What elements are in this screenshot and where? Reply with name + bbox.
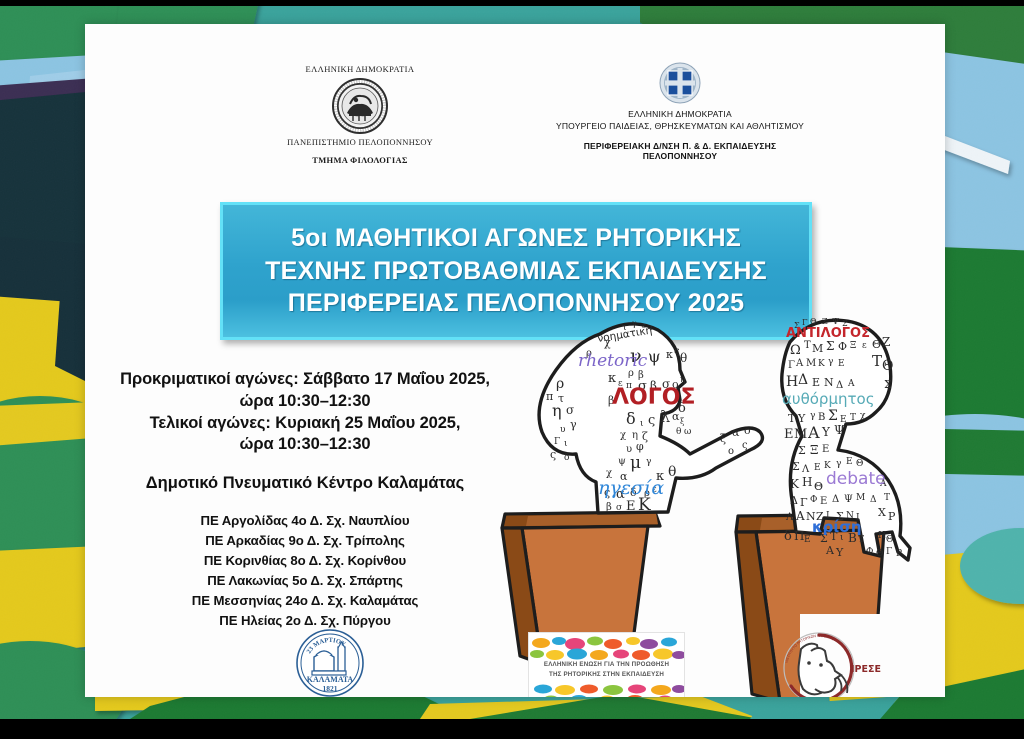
venue-text: Δημοτικό Πνευματικό Κέντρο Καλαμάτας xyxy=(95,474,515,493)
svg-text:Φ: Φ xyxy=(866,547,873,557)
ministry-line2: ΥΠΟΥΡΓΕΙΟ ΠΑΙΔΕΙΑΣ, ΘΡΗΣΚΕΥΜΑΤΩΝ ΚΑΙ ΑΘΛ… xyxy=(515,121,845,131)
svg-text:Ξ: Ξ xyxy=(850,341,856,351)
girl-speaker-wordcloud-figure: τγ ει χρ νψ κς θ ρβ κε πσ βσ οη β δ δι xyxy=(539,319,762,515)
svg-text:Α: Α xyxy=(825,544,835,557)
svg-text:Φ: Φ xyxy=(810,495,817,505)
svg-text:Μ: Μ xyxy=(806,358,816,369)
svg-text:ς: ς xyxy=(550,448,556,461)
svg-text:γ: γ xyxy=(828,357,833,367)
svg-text:κ: κ xyxy=(666,348,673,361)
schedule-block: Προκριματικοί αγώνες: Σάββατο 17 Μαΐου 2… xyxy=(95,369,515,456)
svg-text:Ρ: Ρ xyxy=(896,549,902,559)
svg-text:Ψ: Ψ xyxy=(834,423,845,437)
svg-text:γ: γ xyxy=(810,411,815,421)
svg-text:Θ: Θ xyxy=(810,317,817,326)
svg-text:Θ: Θ xyxy=(814,480,823,493)
speech-bubbles-logo-icon-bottom xyxy=(529,681,684,697)
svg-text:Δ: Δ xyxy=(798,372,808,388)
svg-text:Ε: Ε xyxy=(804,535,811,545)
title-line-2: ΤΕΧΝΗΣ ΠΡΩΤΟΒΑΘΜΙΑΣ ΕΚΠΑΙΔΕΥΣΗΣ xyxy=(265,255,767,288)
svg-text:Δ: Δ xyxy=(790,494,798,507)
svg-text:Γ: Γ xyxy=(886,547,892,557)
list-item: ΠΕ Αργολίδας 4ο Δ. Σχ. Ναυπλίου xyxy=(95,511,515,531)
list-item: ΠΕ Κορινθίας 8ο Δ. Σχ. Κορίνθου xyxy=(95,551,515,571)
svg-text:ψ: ψ xyxy=(648,347,661,366)
svg-text:Ε: Ε xyxy=(784,427,794,442)
bottom-black-bar xyxy=(0,719,1024,739)
list-item: ΠΕ Λακωνίας 5ο Δ. Σχ. Σπάρτης xyxy=(95,571,515,591)
university-line1: ΕΛΛΗΝΙΚΗ ΔΗΜΟΚΡΑΤΙΑ xyxy=(235,64,485,74)
svg-text:ο: ο xyxy=(744,424,751,437)
svg-text:Λ: Λ xyxy=(801,464,810,475)
svg-text:Σ: Σ xyxy=(792,460,800,473)
svg-text:ξ: ξ xyxy=(720,432,726,445)
poster-canvas: ΕΛΛΗΝΙΚΗ ΔΗΜΟΚΡΑΤΙΑ ΠΑΝΕΠΙΣΤΗΜΙΟ ΠΕΛΟΠΟ xyxy=(0,0,1024,739)
svg-text:η: η xyxy=(552,401,562,420)
svg-text:Α: Α xyxy=(795,358,804,369)
hellenic-republic-emblem-icon xyxy=(659,62,701,104)
svg-text:Γ: Γ xyxy=(554,437,560,447)
svg-text:Τ: Τ xyxy=(804,340,811,351)
svg-text:ι: ι xyxy=(564,439,568,449)
svg-text:Ε: Ε xyxy=(838,359,845,369)
svg-text:ι: ι xyxy=(640,419,644,429)
svg-text:γ: γ xyxy=(836,459,841,469)
svg-text:Β: Β xyxy=(818,412,825,423)
svg-text:γ: γ xyxy=(646,457,651,467)
svg-text:Ν: Ν xyxy=(824,376,834,389)
svg-text:Λ: Λ xyxy=(785,512,794,523)
schools-list: ΠΕ Αργολίδας 4ο Δ. Σχ. Ναυπλίου ΠΕ Αρκαδ… xyxy=(95,511,515,631)
svg-text:Τ: Τ xyxy=(788,412,796,425)
svg-text:Τ: Τ xyxy=(884,493,890,503)
svg-text:ψ: ψ xyxy=(618,456,626,467)
top-black-bar xyxy=(0,0,1024,6)
svg-text:Ω: Ω xyxy=(790,343,801,358)
university-of-peloponnese-seal-icon xyxy=(332,78,388,134)
girl-word-rhetoric: rhetoric xyxy=(578,351,648,371)
svg-text:Ε: Ε xyxy=(846,457,853,467)
svg-text:Σ: Σ xyxy=(884,378,892,391)
svg-text:δ: δ xyxy=(564,453,569,463)
svg-text:χ: χ xyxy=(860,411,866,421)
speech-bubbles-logo-icon xyxy=(529,635,684,661)
svg-text:σ: σ xyxy=(566,403,574,417)
svg-text:Ξ: Ξ xyxy=(810,443,818,457)
svg-text:ω: ω xyxy=(684,427,691,437)
svg-text:ς: ς xyxy=(742,440,748,451)
ipese-label: ΙΡΕΣΕ xyxy=(851,664,881,675)
boy-word-afthormitos: αυθόρμητος xyxy=(782,390,875,408)
svg-text:θ: θ xyxy=(668,464,676,480)
list-item: ΠΕ Αρκαδίας 9ο Δ. Σχ. Τρίπολης xyxy=(95,531,515,551)
svg-text:μ: μ xyxy=(630,453,641,473)
svg-text:Τ: Τ xyxy=(858,535,864,545)
svg-text:ς: ς xyxy=(648,413,655,428)
svg-text:φ: φ xyxy=(636,440,644,453)
svg-text:Κ: Κ xyxy=(818,359,825,369)
svg-text:Δ: Δ xyxy=(832,494,839,505)
svg-text:δ: δ xyxy=(784,529,792,544)
title-line-1: 5οι ΜΑΘΗΤΙΚΟΙ ΑΓΩΝΕΣ ΡΗΤΟΡΙΚΗΣ xyxy=(291,222,741,255)
svg-text:Ψ: Ψ xyxy=(844,494,853,505)
ipese-logo-block: ΙΡΕΣΕ ΙΝΣΤΙΤΟΥΤΟ ΡΗΤΟΡΙΚΩΝ ΚΑΙ ΕΠΙΚΟΙΝΩΝ… xyxy=(771,629,891,697)
kalamata-seal-mid-text: ΚΑΛΑΜΑΤΑ xyxy=(307,675,354,684)
eepre-line-1: ΕΛΛΗΝΙΚΗ ΕΝΩΣΗ ΓΙΑ ΤΗΝ ΠΡΟΩΘΗΣΗ xyxy=(529,661,684,668)
svg-text:Η: Η xyxy=(878,531,886,541)
svg-text:Μ: Μ xyxy=(794,427,807,442)
university-block: ΕΛΛΗΝΙΚΗ ΔΗΜΟΚΡΑΤΙΑ ΠΑΝΕΠΙΣΤΗΜΙΟ ΠΕΛΟΠΟ xyxy=(235,64,485,165)
svg-text:σ: σ xyxy=(616,503,622,513)
svg-text:ο: ο xyxy=(728,446,734,457)
kalamata-seal-year: 1821 xyxy=(323,684,338,693)
boy-word-debate: debate xyxy=(826,469,886,489)
ministry-line1: ΕΛΛΗΝΙΚΗ ΔΗΜΟΚΡΑΤΙΑ xyxy=(515,109,845,119)
svg-text:Α: Α xyxy=(807,423,820,442)
girl-word-logos: ΛΟΓΟΣ xyxy=(612,385,695,410)
svg-text:Θ: Θ xyxy=(872,338,881,351)
svg-text:ξ: ξ xyxy=(680,417,685,426)
svg-text:Ρ: Ρ xyxy=(888,510,896,523)
finals-line-2: ώρα 10:30–12:30 xyxy=(95,434,515,456)
svg-text:Ε: Ε xyxy=(814,463,821,473)
svg-text:ρ: ρ xyxy=(556,376,564,392)
svg-text:Α: Α xyxy=(795,509,805,523)
qualifiers-line-2: ώρα 10:30–12:30 xyxy=(95,391,515,413)
ministry-line3: ΠΕΡΙΦΕΡΕΙΑΚΗ Δ/ΝΣΗ Π. & Δ. ΕΚΠΑΙΔΕΥΣΗΣ xyxy=(515,141,845,151)
svg-text:χ: χ xyxy=(620,430,626,441)
svg-text:θ: θ xyxy=(680,351,687,365)
svg-text:Θ: Θ xyxy=(856,459,863,469)
qualifiers-line-1: Προκριματικοί αγώνες: Σάββατο 17 Μαΐου 2… xyxy=(95,369,515,391)
svg-text:Θ: Θ xyxy=(882,358,893,374)
svg-text:Μ: Μ xyxy=(856,493,865,503)
svg-text:Θ: Θ xyxy=(876,549,883,559)
list-item: ΠΕ Μεσσηνίας 24ο Δ. Σχ. Καλαμάτας xyxy=(95,591,515,611)
svg-text:Κ: Κ xyxy=(790,477,800,491)
svg-text:Δ: Δ xyxy=(870,495,877,505)
svg-text:κ: κ xyxy=(608,371,616,386)
svg-text:Υ: Υ xyxy=(835,546,844,559)
university-line2: ΠΑΝΕΠΙΣΤΗΜΙΟ ΠΕΛΟΠΟΝΝΗΣΟΥ xyxy=(235,137,485,147)
svg-text:Γ: Γ xyxy=(800,496,808,509)
svg-text:α: α xyxy=(672,410,680,423)
svg-text:Τ: Τ xyxy=(872,352,882,370)
svg-text:Τ: Τ xyxy=(850,413,856,423)
svg-text:Ε: Ε xyxy=(822,444,829,455)
svg-text:Χ: Χ xyxy=(878,506,886,519)
svg-text:η: η xyxy=(680,375,685,385)
boy-word-antilogos: ΑΝΤΙΛΟΓΟΣ xyxy=(786,326,870,341)
girl-word-igesia: ηγεσία xyxy=(598,477,664,499)
svg-text:γ: γ xyxy=(570,418,577,431)
svg-text:Σ: Σ xyxy=(828,408,838,424)
ministry-block: ΕΛΛΗΝΙΚΗ ΔΗΜΟΚΡΑΤΙΑ ΥΠΟΥΡΓΕΙΟ ΠΑΙΔΕΙΑΣ, … xyxy=(515,62,845,161)
svg-text:ε: ε xyxy=(862,341,867,351)
svg-text:Σ: Σ xyxy=(798,444,806,457)
finals-line-1: Τελικοί αγώνες: Κυριακή 25 Μαΐου 2025, xyxy=(95,413,515,435)
eepre-line-2: ΤΗΣ ΡΗΤΟΡΙΚΗΣ ΣΤΗΝ ΕΚΠΑΙΔΕΥΣΗ xyxy=(529,671,684,678)
svg-text:Ε: Ε xyxy=(812,376,820,389)
poster-card: ΕΛΛΗΝΙΚΗ ΔΗΜΟΚΡΑΤΙΑ ΠΑΝΕΠΙΣΤΗΜΙΟ ΠΕΛΟΠΟ xyxy=(85,24,945,697)
svg-text:Ζ: Ζ xyxy=(882,335,890,349)
svg-text:Υ: Υ xyxy=(797,412,806,425)
svg-text:β: β xyxy=(606,502,612,513)
svg-text:θ: θ xyxy=(676,427,681,437)
boy-word-krisi: κρίση xyxy=(812,518,862,536)
svg-text:Π: Π xyxy=(794,529,804,543)
svg-text:Ε: Ε xyxy=(820,496,827,507)
svg-text:Σ: Σ xyxy=(826,339,834,353)
kalamata-municipality-seal-icon: ΚΑΛΑΜΑΤΑ 1821 23 ΜΑΡΤΙΟΥ xyxy=(294,627,366,697)
ipese-faces-circle-logo-icon: ΙΡΕΣΕ ΙΝΣΤΙΤΟΥΤΟ ΡΗΤΟΡΙΚΩΝ ΚΑΙ ΕΠΙΚΟΙΝΩΝ… xyxy=(771,629,891,697)
svg-text:Φ: Φ xyxy=(838,340,847,353)
university-line3: ΤΜΗΜΑ ΦΙΛΟΛΟΓΙΑΣ xyxy=(235,155,485,165)
poster-header: ΕΛΛΗΝΙΚΗ ΔΗΜΟΚΡΑΤΙΑ ΠΑΝΕΠΙΣΤΗΜΙΟ ΠΕΛΟΠΟ xyxy=(85,24,945,194)
svg-text:Α: Α xyxy=(847,379,855,389)
svg-text:Υ: Υ xyxy=(821,425,831,439)
svg-text:Θ: Θ xyxy=(886,535,893,545)
ministry-line4: ΠΕΛΟΠΟΝΝΗΣΟΥ xyxy=(515,151,845,161)
svg-text:Η: Η xyxy=(802,475,812,489)
eepre-logo-block: ΕΛΛΗΝΙΚΗ ΕΝΩΣΗ ΓΙΑ ΤΗΝ ΠΡΟΩΘΗΣΗ ΤΗΣ ΡΗΤΟ… xyxy=(528,632,685,697)
svg-text:Ζ: Ζ xyxy=(822,317,828,326)
svg-text:Μ: Μ xyxy=(812,342,823,355)
svg-text:υ: υ xyxy=(560,425,566,435)
svg-text:Ψ: Ψ xyxy=(832,317,839,326)
svg-text:Ε: Ε xyxy=(626,499,636,514)
svg-text:δ: δ xyxy=(626,409,636,428)
svg-text:α: α xyxy=(732,426,740,439)
svg-text:Η: Η xyxy=(786,374,798,390)
kalamata-logo-block: ΚΑΛΑΜΑΤΑ 1821 23 ΜΑΡΤΙΟΥ Δήμος Καλαμάτας xyxy=(245,627,415,697)
boy-speaker-wordcloud-figure: ΣΓ ΘΖ ΨΣ ΩΤ ΜΣ ΦΞ εΘ Ζ ΓΑ ΜΚ γΕ ΤΘ ΗΔ ΕΝ xyxy=(782,317,910,560)
svg-text:Γ: Γ xyxy=(788,360,795,371)
